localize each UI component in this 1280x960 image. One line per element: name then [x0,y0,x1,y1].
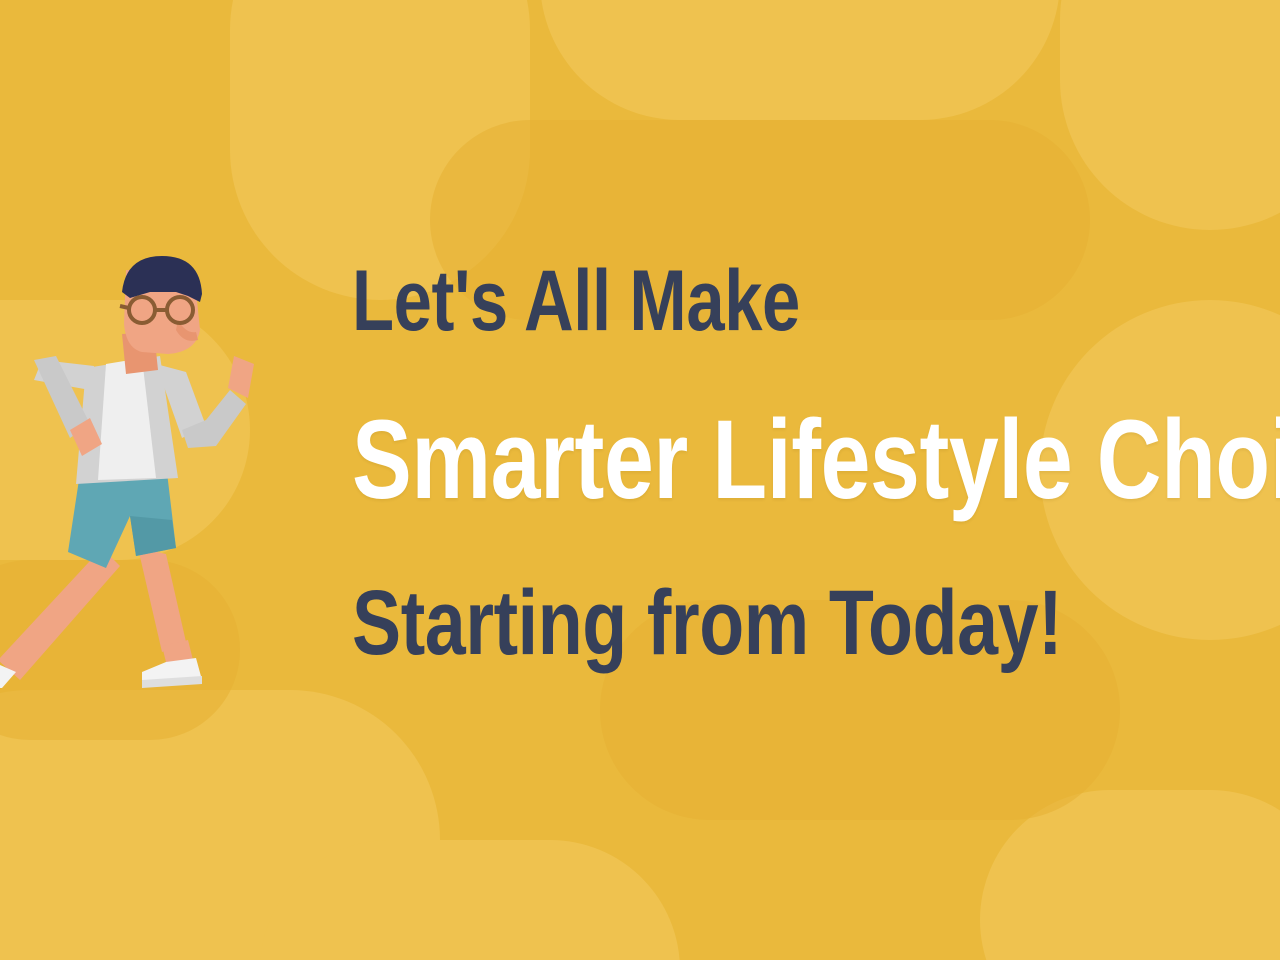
blob-bottom-right [980,790,1280,960]
promotional-banner: Let's All Make Smarter Lifestyle Choic S… [0,0,1280,960]
blob-top-center [540,0,1060,120]
blob-bottom-left [0,690,440,960]
glasses-temple [120,306,129,308]
front-thigh [138,548,186,652]
headline-line-1: Let's All Make [352,258,1152,366]
shorts-shade [130,516,176,556]
headline-line-2: Smarter Lifestyle Choic [352,404,1152,551]
back-thigh-shin [0,548,120,680]
back-leg [0,548,120,688]
blob-top-right [1060,0,1280,230]
headline-line-3: Starting from Today! [352,577,1152,692]
running-man-illustration [0,248,290,688]
headline-block: Let's All Make Smarter Lifestyle Choic S… [352,252,1280,692]
front-leg [138,548,202,688]
blob-bottom-center [260,840,680,960]
